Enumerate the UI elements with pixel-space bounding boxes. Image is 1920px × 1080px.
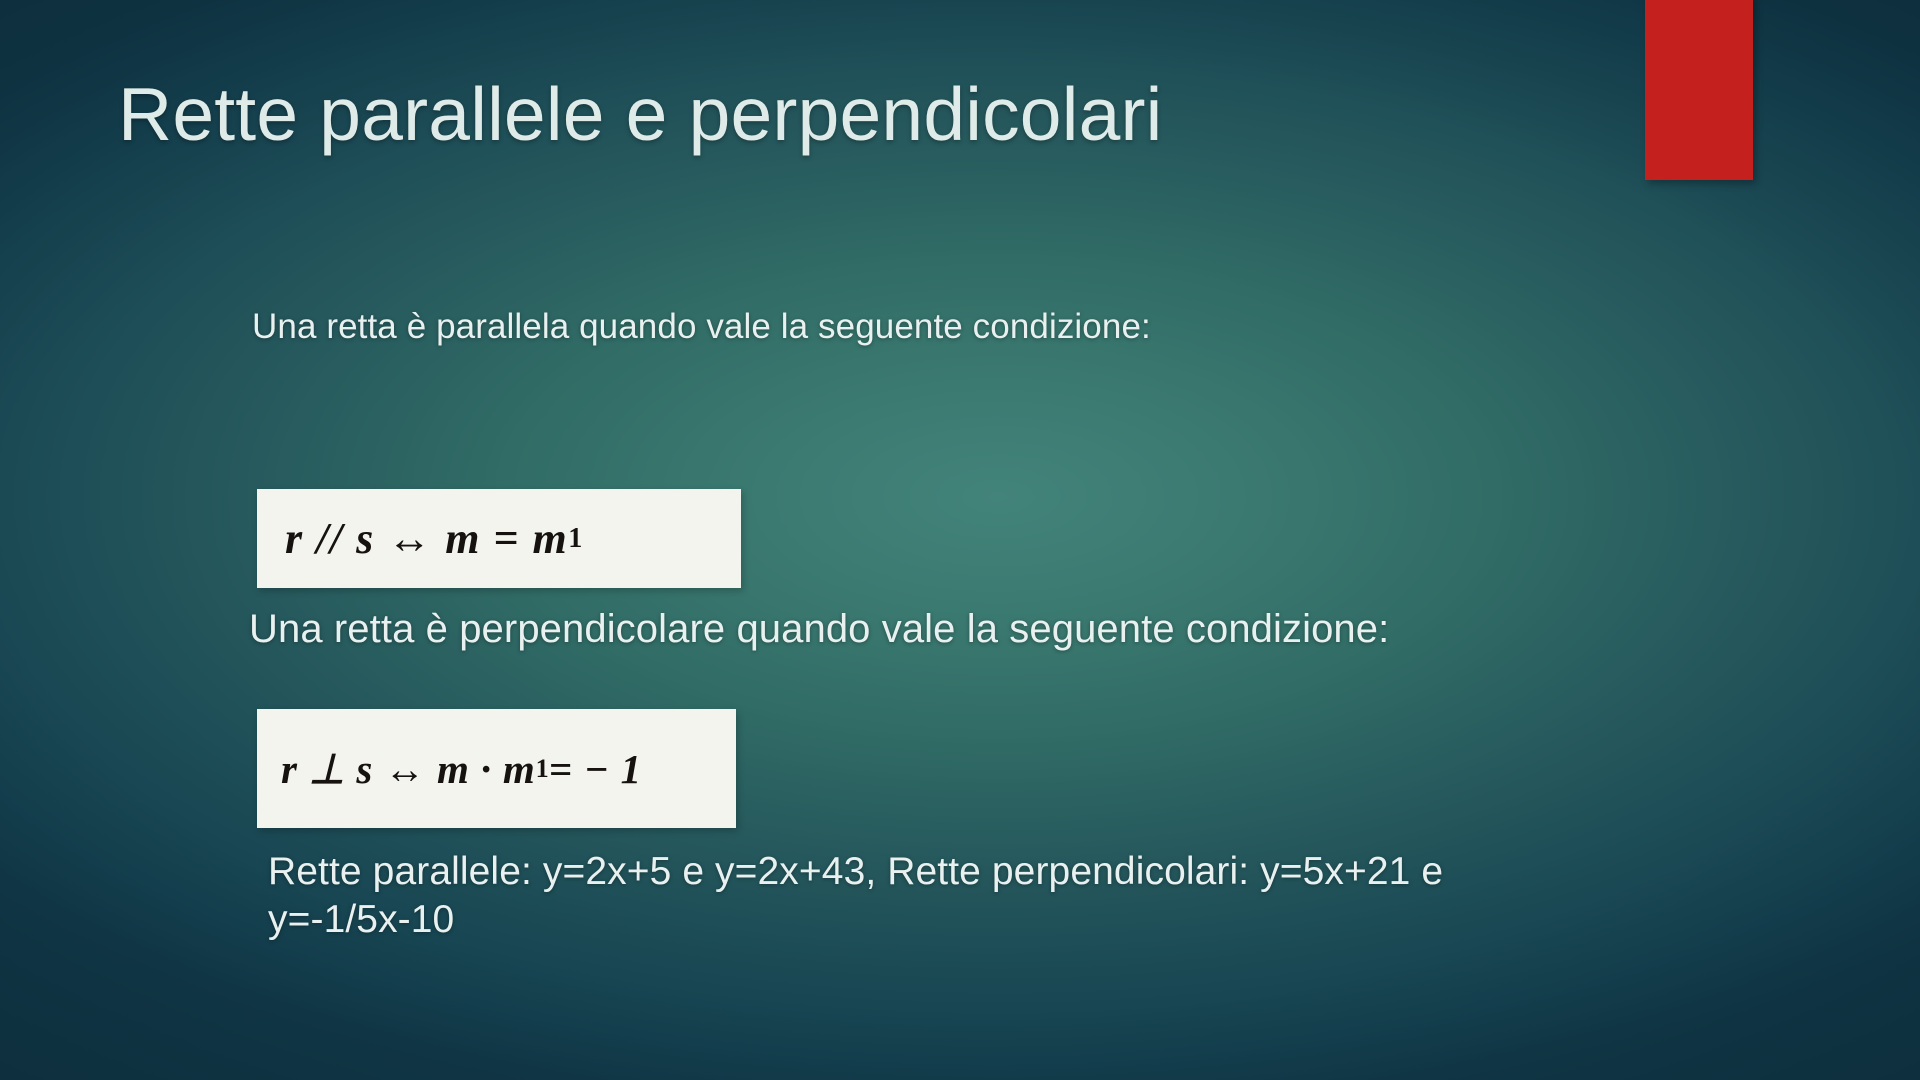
examples-text: Rette parallele: y=2x+5 e y=2x+43, Rette… <box>268 848 1528 943</box>
perpendicular-formula-box: r ⊥ s ↔ m · m1 = − 1 <box>257 709 736 828</box>
perpendicular-formula-result: = − 1 <box>549 745 642 793</box>
parallel-formula-box: r // s ↔ m = m1 <box>257 489 741 588</box>
parallel-formula-expression: r // s ↔ m = m <box>285 513 568 564</box>
perpendicular-formula-expression: r ⊥ s ↔ m · m <box>281 745 536 793</box>
presentation-slide: Rette parallele e perpendicolari Una ret… <box>0 0 1920 1080</box>
parallel-condition-intro: Una retta è parallela quando vale la seg… <box>252 307 1151 347</box>
page-title: Rette parallele e perpendicolari <box>118 74 1618 155</box>
perpendicular-condition-intro: Una retta è perpendicolare quando vale l… <box>249 607 1389 652</box>
parallel-formula-subscript: 1 <box>568 523 582 555</box>
perpendicular-formula-subscript: 1 <box>536 754 549 784</box>
red-accent-bar <box>1645 0 1753 180</box>
